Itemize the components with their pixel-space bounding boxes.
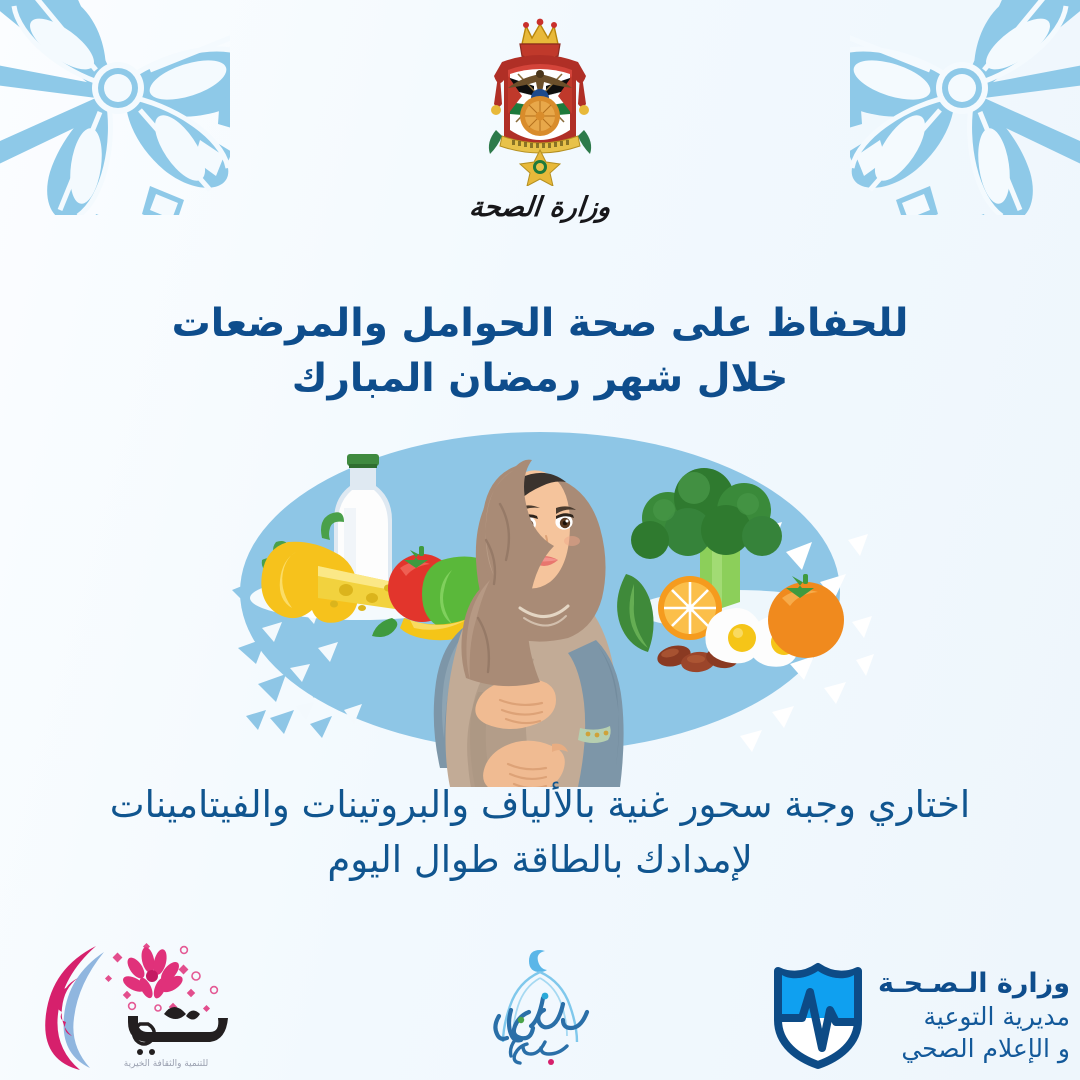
logo-badri: للتنمية والثقافة الخيرية [18, 932, 258, 1072]
footer-logos: للتنمية والثقافة الخيرية [0, 925, 1080, 1080]
logo-ministry-of-health: وزارة الـصـحـة مديرية التوعية و الإعلام … [772, 962, 1070, 1070]
poster-canvas: وزارة الصحة للحفاظ على صحة الحوامل والمر… [0, 0, 1080, 1080]
ministry-line-1: وزارة الـصـحـة [878, 967, 1070, 1002]
ramadan-word-2 [511, 1040, 568, 1063]
emblem-caption: وزارة الصحة [428, 192, 651, 223]
ramadan-dot-green [518, 1017, 524, 1023]
illustration-pregnant-woman-with-food [0, 412, 1080, 787]
hashemite-coat-of-arms-icon [450, 18, 630, 186]
ministry-line-3: و الإعلام الصحي [878, 1033, 1070, 1065]
headline: للحفاظ على صحة الحوامل والمرضعات خلال شه… [0, 296, 1080, 407]
ministry-line-2: مديرية التوعية [878, 1001, 1070, 1033]
logo-ramadan-mubarak [455, 942, 625, 1072]
headline-line-1: للحفاظ على صحة الحوامل والمرضعات [0, 296, 1080, 351]
shield-heartbeat-icon [772, 962, 864, 1070]
corner-ornament-left [0, 0, 230, 215]
badri-tagline: للتنمية والثقافة الخيرية [124, 1059, 208, 1069]
body-copy-line-2: لإمدادك بالطاقة طوال اليوم [0, 833, 1080, 888]
ramadan-dot-blue [542, 993, 549, 1000]
badri-wordmark [128, 1007, 228, 1055]
ramadan-dot-pink [548, 1059, 554, 1065]
body-copy-line-1: اختاري وجبة سحور غنية بالألياف والبروتين… [0, 778, 1080, 833]
body-copy: اختاري وجبة سحور غنية بالألياف والبروتين… [0, 778, 1080, 888]
corner-ornament-right [850, 0, 1080, 215]
headline-line-2: خلال شهر رمضان المبارك [0, 351, 1080, 406]
ministry-logo-text: وزارة الـصـحـة مديرية التوعية و الإعلام … [878, 967, 1070, 1066]
ministry-emblem-block: وزارة الصحة [430, 18, 650, 223]
